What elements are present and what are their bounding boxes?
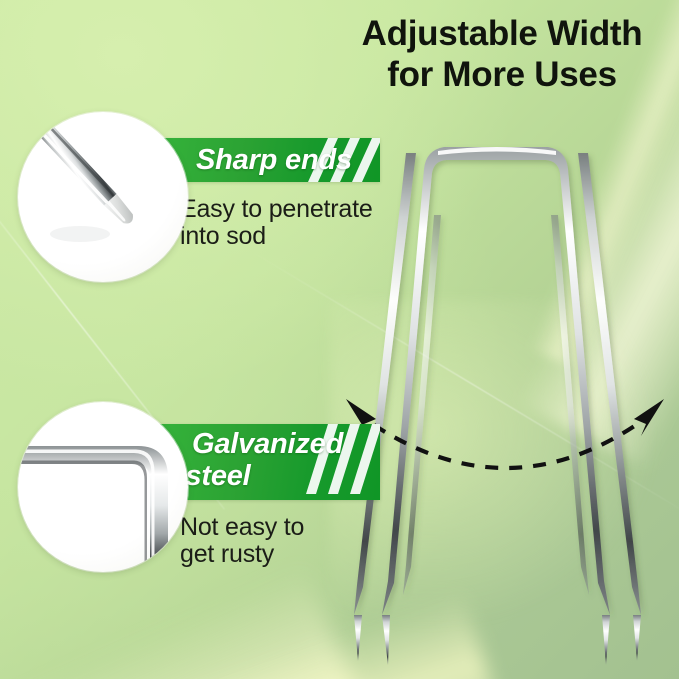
rod-shadow [50,226,110,242]
feature-caption-line1: Easy to penetrate [180,196,410,223]
infographic-canvas: Adjustable Width for More Uses [0,0,679,679]
staple-tips [354,615,641,665]
page-title-line2: for More Uses [330,55,674,96]
bent-rod [18,446,168,572]
feature-caption-line2: into sod [180,223,410,250]
feature-photo-sharp-tip [18,112,188,282]
feature-caption-sharp-ends: Easy to penetrate into sod [180,196,410,250]
feature-photo-bent-corner [18,402,188,572]
staple-crown-and-front-legs [382,147,610,615]
sharp-tip-rod-photo-icon [18,112,188,282]
rod-shaft [33,118,137,228]
staple-tip-3 [602,615,610,665]
page-title-line1: Adjustable Width [362,14,643,53]
feature-caption-galvanized-steel: Not easy to get rusty [180,514,410,568]
arrow-head-right [634,399,664,436]
staple-leg-back-right [578,153,641,615]
feature-caption-line1: Not easy to [180,514,410,541]
staple-tip-1 [382,615,390,665]
page-title: Adjustable Width for More Uses [330,14,674,95]
staple-tip-2 [354,615,362,661]
bent-corner-rod-photo-icon [18,402,188,572]
feature-sharp-ends: Sharp ends Easy to penetrate into sod [18,112,380,284]
feature-banner-label-line1: Galvanized [192,428,380,461]
feature-caption-line2: get rusty [180,541,410,568]
staple-front-frame [382,147,610,615]
staple-tip-4 [633,615,641,661]
adjustable-width-arrows [330,385,679,505]
arrow-dashed-arc [374,425,636,468]
feature-banner-label-sharp-ends: Sharp ends [196,144,380,176]
feature-galvanized-steel: Galvanized steel Not easy to get rusty [18,402,380,582]
